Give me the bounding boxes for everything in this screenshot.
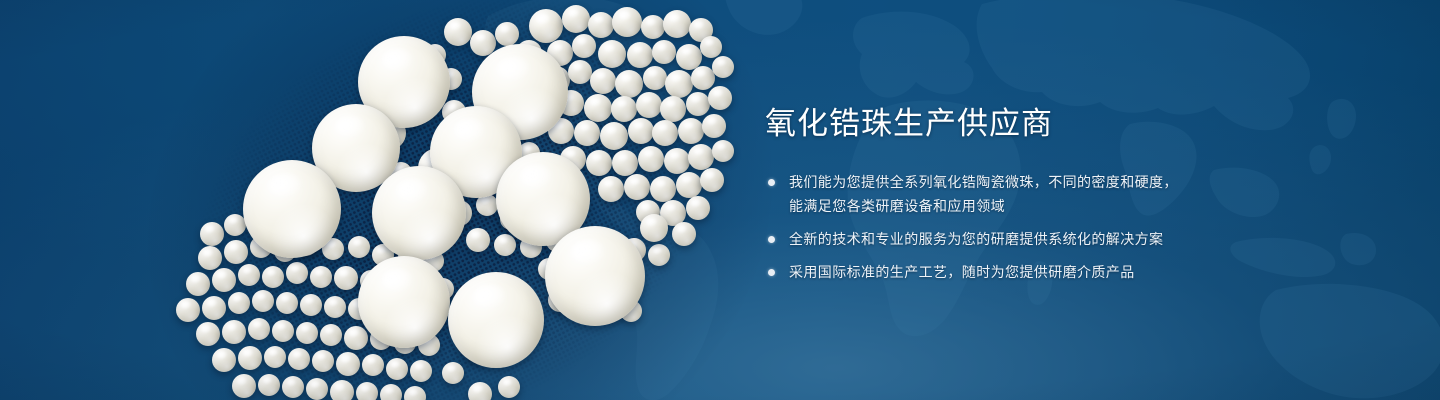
list-item: 采用国际标准的生产工艺，随时为您提供研磨介质产品 (765, 260, 1365, 284)
list-item-line: 能满足您各类研磨设备和应用领域 (789, 194, 1365, 218)
page-title: 氧化锆珠生产供应商 (765, 104, 1365, 144)
hero-banner: 氧化锆珠生产供应商 我们能为您提供全系列氧化锆陶瓷微珠，不同的密度和硬度， 能满… (0, 0, 1440, 400)
list-item: 我们能为您提供全系列氧化锆陶瓷微珠，不同的密度和硬度， 能满足您各类研磨设备和应… (765, 170, 1365, 218)
list-item-line: 采用国际标准的生产工艺，随时为您提供研磨介质产品 (789, 260, 1365, 284)
list-item-line: 我们能为您提供全系列氧化锆陶瓷微珠，不同的密度和硬度， (789, 170, 1365, 194)
banner-text-block: 氧化锆珠生产供应商 我们能为您提供全系列氧化锆陶瓷微珠，不同的密度和硬度， 能满… (765, 104, 1365, 284)
feature-list: 我们能为您提供全系列氧化锆陶瓷微珠，不同的密度和硬度， 能满足您各类研磨设备和应… (765, 170, 1365, 284)
bullet-dot-icon (768, 236, 775, 243)
bullet-dot-icon (768, 179, 775, 186)
list-item: 全新的技术和专业的服务为您的研磨提供系统化的解决方案 (765, 227, 1365, 251)
list-item-line: 全新的技术和专业的服务为您的研磨提供系统化的解决方案 (789, 227, 1365, 251)
bullet-dot-icon (768, 269, 775, 276)
